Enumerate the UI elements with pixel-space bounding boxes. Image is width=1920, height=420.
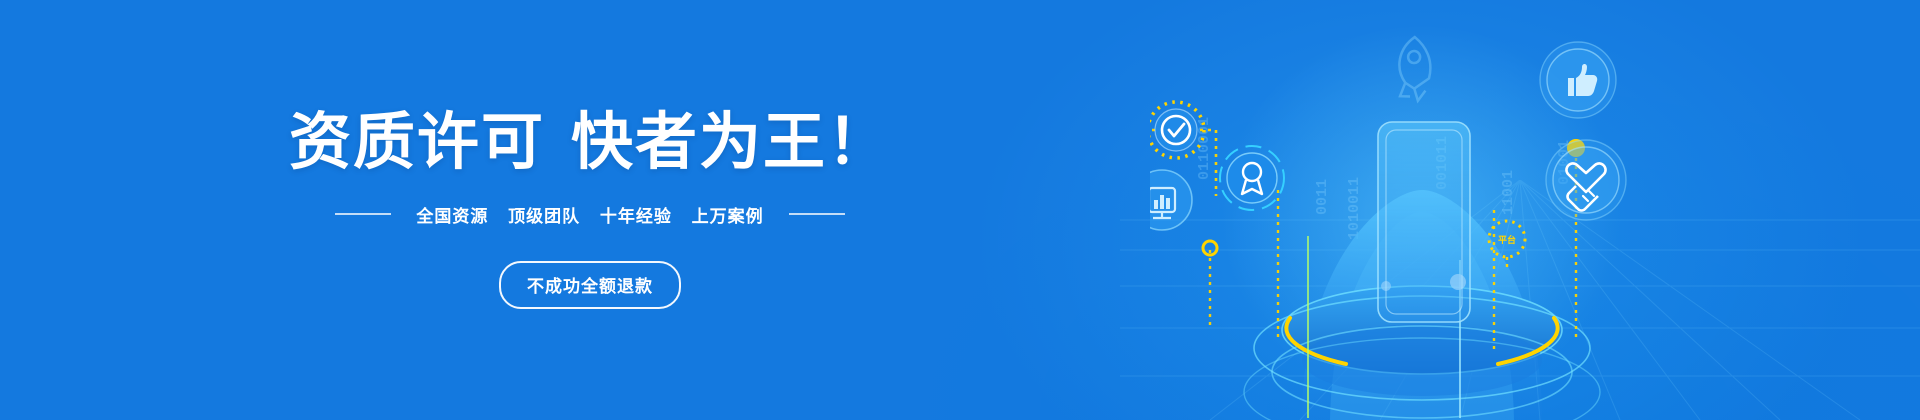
subtitle-item-1: 顶级团队 — [508, 207, 580, 226]
copy-block: 资质许可快者为王！ 全国资源 顶级团队 十年经验 上万案例 不成功全额退款 — [0, 0, 1180, 420]
refund-guarantee-button[interactable]: 不成功全额退款 — [499, 261, 681, 309]
divider-right — [789, 213, 845, 215]
subtitle-item-0: 全国资源 — [416, 207, 488, 226]
binary-text: 11001 — [1500, 170, 1517, 215]
platform-badge-label: 平台 — [1487, 219, 1527, 259]
thumbs-up-icon — [1540, 42, 1616, 118]
tech-illustration: 0110001 10100 0011 1010011 001011 11001 … — [1150, 0, 1920, 420]
subtitle: 全国资源 顶级团队 十年经验 上万案例 — [409, 202, 770, 227]
handshake-icon — [1546, 140, 1626, 220]
headline-part-2: 快者为王！ — [571, 108, 891, 177]
page-title: 资质许可快者为王！ — [289, 112, 891, 174]
headline-part-1: 资质许可 — [289, 108, 545, 177]
vertical-text-panel — [1378, 122, 1470, 322]
subtitle-row: 全国资源 顶级团队 十年经验 上万案例 — [335, 202, 844, 227]
subtitle-item-3: 上万案例 — [692, 207, 764, 226]
subtitle-item-2: 十年经验 — [600, 207, 672, 226]
bar-chart-icon — [1150, 170, 1192, 230]
binary-text: 0011 — [1314, 179, 1331, 215]
medal-icon — [1220, 146, 1284, 210]
divider-left — [335, 213, 391, 215]
binary-text: 0110001 — [1196, 117, 1213, 180]
promo-banner: 资质许可快者为王！ 全国资源 顶级团队 十年经验 上万案例 不成功全额退款 — [0, 0, 1920, 420]
